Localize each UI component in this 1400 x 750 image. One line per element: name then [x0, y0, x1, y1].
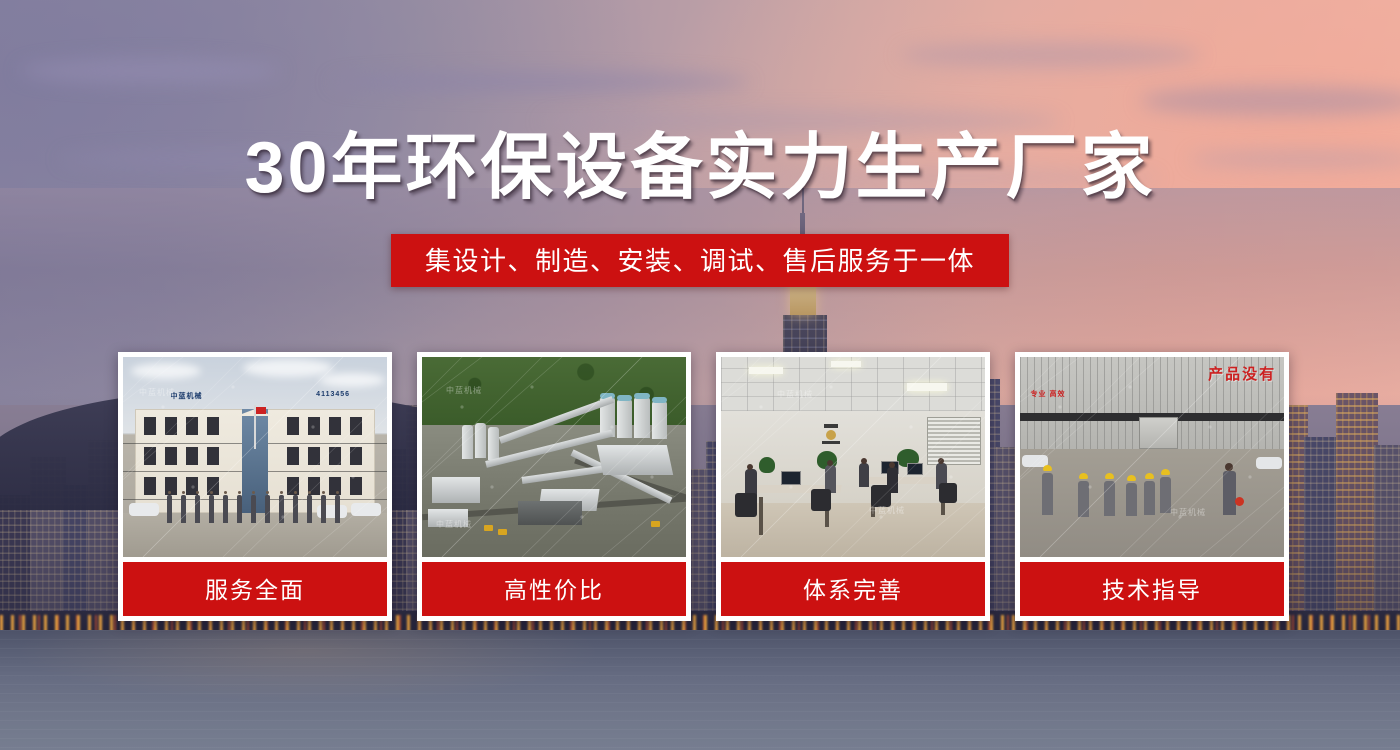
card-caption: 高性价比 — [422, 562, 686, 616]
card-caption: 体系完善 — [721, 562, 985, 616]
card-photo-workers: 产品没有 专业 高效 — [1020, 357, 1284, 557]
promo-banner: 30年环保设备实力生产厂家 集设计、制造、安装、调试、售后服务于一体 — [0, 0, 1400, 750]
card-photo-office-building: 中蓝机械 4113456 — [123, 357, 387, 557]
river-water — [0, 630, 1400, 750]
subtitle-badge: 集设计、制造、安装、调试、售后服务于一体 — [391, 234, 1009, 287]
card-photo-office-interior: 中蓝机械 中蓝机械 — [721, 357, 985, 557]
factory-slogan-small: 专业 高效 — [1031, 389, 1066, 399]
feature-card[interactable]: 中蓝机械 中蓝机械 体系完善 — [716, 352, 990, 621]
building-phone-text: 4113456 — [316, 391, 350, 398]
factory-slogan: 产品没有 — [1208, 363, 1276, 384]
feature-card[interactable]: 中蓝机械 4113456 — [118, 352, 392, 621]
page-title: 30年环保设备实力生产厂家 — [0, 132, 1400, 204]
card-caption: 服务全面 — [123, 562, 387, 616]
feature-card[interactable]: 产品没有 专业 高效 — [1015, 352, 1289, 621]
wall-decal — [816, 423, 846, 447]
card-caption: 技术指导 — [1020, 562, 1284, 616]
feature-card-list: 中蓝机械 4113456 — [118, 352, 1289, 621]
feature-card[interactable]: 中蓝机械 中蓝机械 高性价比 — [417, 352, 691, 621]
card-photo-aerial-plant: 中蓝机械 中蓝机械 — [422, 357, 686, 557]
building-sign-text: 中蓝机械 — [171, 391, 203, 401]
